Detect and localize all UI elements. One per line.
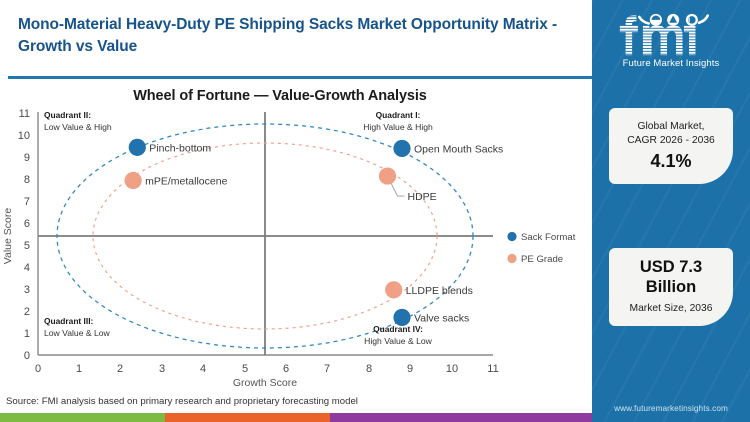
svg-text:Low Value & High: Low Value & High	[44, 122, 112, 132]
chart-plot-area: 0 1 2 3 4 5 6 7 8 9 10 11 Growth Score 0	[0, 100, 592, 390]
svg-text:2: 2	[24, 306, 30, 318]
cagr-card: Global Market, CAGR 2026 - 2036 4.1%	[609, 108, 733, 184]
svg-text:8: 8	[366, 363, 372, 375]
bar-segment-orange	[165, 413, 330, 422]
data-point-label: Pinch-bottom	[149, 142, 211, 154]
data-point-marker[interactable]	[125, 172, 142, 189]
source-note: Source: FMI analysis based on primary re…	[6, 396, 586, 407]
scatter-chart: 0 1 2 3 4 5 6 7 8 9 10 11 Growth Score 0	[0, 100, 592, 390]
svg-text:6: 6	[283, 363, 289, 375]
data-point-marker[interactable]	[379, 167, 396, 184]
data-point[interactable]: HDPE	[379, 167, 437, 203]
svg-text:11: 11	[487, 363, 498, 375]
cagr-label-line2: CAGR 2026 - 2036	[627, 135, 715, 146]
website-url: www.futuremarketinsights.com	[592, 404, 750, 413]
data-point-label: LLDPE blends	[406, 285, 473, 297]
sidebar: Future Market Insights Global Market, CA…	[592, 0, 750, 422]
data-point-label: Open Mouth Sacks	[414, 143, 503, 155]
svg-text:10: 10	[18, 130, 30, 142]
bottom-color-bar	[0, 413, 592, 422]
bar-segment-green	[0, 413, 165, 422]
svg-text:High Value & High: High Value & High	[363, 122, 433, 132]
svg-text:7: 7	[24, 196, 30, 208]
svg-text:5: 5	[24, 240, 30, 252]
market-size-label: Market Size, 2036	[630, 302, 713, 316]
data-point[interactable]: Pinch-bottom	[129, 139, 212, 156]
page-title: Mono-Material Heavy-Duty PE Shipping Sac…	[18, 14, 574, 59]
data-point-label: HDPE	[408, 191, 437, 203]
x-axis-label: Growth Score	[233, 377, 297, 389]
svg-text:High Value & Low: High Value & Low	[364, 336, 432, 346]
y-axis-ticks: 0 1 2 3 4 5 6 7 8 9 10 11	[18, 108, 30, 362]
svg-text:11: 11	[19, 108, 30, 120]
data-point[interactable]: Open Mouth Sacks	[393, 140, 503, 157]
svg-text:3: 3	[159, 363, 165, 375]
main-content: Mono-Material Heavy-Duty PE Shipping Sac…	[0, 0, 592, 422]
svg-text:4: 4	[200, 363, 206, 375]
bar-segment-purple	[330, 413, 592, 422]
svg-text:2: 2	[117, 363, 123, 375]
svg-text:4: 4	[24, 262, 30, 274]
y-axis-label: Value Score	[2, 208, 14, 265]
quadrant-1-annotation: Quadrant I: High Value & High	[363, 110, 433, 132]
cagr-card-label: Global Market, CAGR 2026 - 2036	[627, 120, 715, 148]
svg-text:Quadrant IV:: Quadrant IV:	[373, 324, 423, 334]
svg-text:0: 0	[35, 363, 41, 375]
market-size-line2: Billion	[646, 278, 696, 296]
svg-text:6: 6	[24, 218, 30, 230]
legend-item[interactable]: PE Grade	[507, 254, 563, 265]
fmi-logo-tagline: Future Market Insights	[623, 58, 720, 69]
data-points-layer: Pinch-bottomOpen Mouth SacksValve sacksm…	[125, 139, 504, 326]
infographic-page: Mono-Material Heavy-Duty PE Shipping Sac…	[0, 0, 750, 422]
data-point-marker[interactable]	[393, 140, 410, 157]
svg-text:Quadrant II:: Quadrant II:	[44, 110, 91, 120]
data-point-marker[interactable]	[385, 281, 402, 298]
market-size-value: USD 7.3 Billion	[640, 258, 702, 298]
svg-text:10: 10	[446, 363, 458, 375]
data-point-marker[interactable]	[393, 309, 410, 326]
quadrant-2-annotation: Quadrant II: Low Value & High	[44, 110, 112, 132]
header: Mono-Material Heavy-Duty PE Shipping Sac…	[0, 6, 592, 74]
svg-text:7: 7	[324, 363, 330, 375]
chart-legend: Sack FormatPE Grade	[507, 232, 575, 265]
header-divider	[8, 76, 592, 79]
svg-text:9: 9	[24, 152, 30, 164]
market-size-line1: USD 7.3	[640, 258, 702, 276]
svg-text:1: 1	[76, 363, 82, 375]
svg-text:9: 9	[407, 363, 413, 375]
quadrant-3-annotation: Quadrant III: Low Value & Low	[44, 316, 111, 338]
market-size-card: USD 7.3 Billion Market Size, 2036	[609, 248, 733, 326]
svg-text:5: 5	[242, 363, 248, 375]
data-point[interactable]: Valve sacks	[393, 309, 469, 326]
svg-text:0: 0	[24, 350, 30, 362]
cagr-label-line1: Global Market,	[638, 121, 705, 132]
svg-text:1: 1	[24, 328, 30, 340]
data-point[interactable]: LLDPE blends	[385, 281, 473, 298]
legend-label: Sack Format	[521, 232, 576, 243]
data-point[interactable]: mPE/metallocene	[125, 172, 228, 189]
legend-label: PE Grade	[521, 254, 563, 265]
data-point-label: Valve sacks	[414, 312, 469, 324]
data-point-marker[interactable]	[129, 139, 146, 156]
svg-text:8: 8	[24, 174, 30, 186]
svg-text:Quadrant III:: Quadrant III:	[44, 316, 93, 326]
legend-marker	[507, 232, 516, 241]
fmi-logo-mark	[617, 13, 725, 57]
cagr-value: 4.1%	[650, 151, 691, 172]
x-axis-ticks: 0 1 2 3 4 5 6 7 8 9 10 11	[35, 363, 499, 375]
quadrant-4-annotation: Quadrant IV: High Value & Low	[364, 324, 432, 346]
legend-marker	[507, 254, 516, 263]
svg-text:Quadrant I:: Quadrant I:	[376, 110, 421, 120]
data-point-label: mPE/metallocene	[145, 175, 227, 187]
fmi-logo: Future Market Insights	[592, 8, 750, 74]
legend-item[interactable]: Sack Format	[507, 232, 575, 243]
svg-text:3: 3	[24, 284, 30, 296]
svg-text:Low Value & Low: Low Value & Low	[44, 328, 111, 338]
